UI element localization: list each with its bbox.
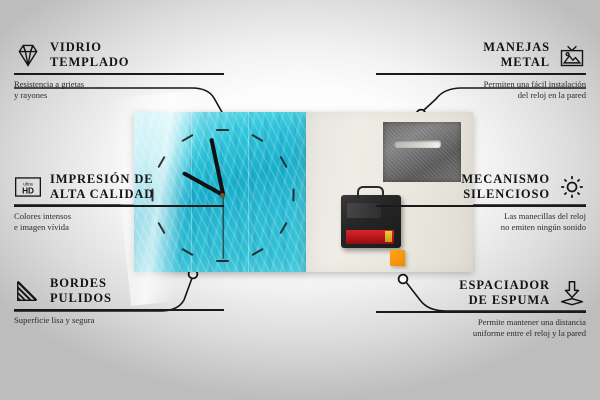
clock-tick — [292, 189, 294, 202]
diamond-icon — [14, 42, 42, 68]
svg-text:HD: HD — [22, 186, 34, 195]
feature-title: MECANISMO SILENCIOSO — [461, 172, 550, 201]
feature-divider — [14, 205, 224, 207]
feature-divider — [14, 309, 224, 311]
feature-divider — [376, 205, 586, 207]
feature-title: IMPRESIÓN DE ALTA CALIDAD — [50, 172, 154, 201]
clock-tick — [216, 260, 229, 262]
feature-heading: MANEJAS METAL — [376, 40, 586, 69]
gear-icon — [558, 174, 586, 200]
feature-heading: ultra HD IMPRESIÓN DE ALTA CALIDAD — [14, 172, 224, 201]
feature-bordes-pulidos: BORDES PULIDOS Superficie lisa y segura — [14, 276, 224, 326]
feature-title: MANEJAS METAL — [483, 40, 550, 69]
panel-seam-right — [248, 112, 249, 272]
feature-description: Resistencia a grietas y rayones — [14, 79, 224, 103]
feature-espaciador-espuma: ESPACIADOR DE ESPUMA Permite mantener un… — [376, 278, 586, 340]
feature-divider — [376, 73, 586, 75]
feature-manejas-metal: MANEJAS METAL Permiten una fácil instala… — [376, 40, 586, 102]
feature-heading: BORDES PULIDOS — [14, 276, 224, 305]
clock-tick — [252, 248, 264, 256]
feature-description: Permite mantener una distancia uniforme … — [376, 317, 586, 341]
down-arrow-pad-icon — [558, 280, 586, 306]
feature-divider — [14, 73, 224, 75]
clock-tick — [280, 156, 288, 168]
feature-description: Colores intensos e imagen vívida — [14, 211, 224, 235]
feature-title: VIDRIO TEMPLADO — [50, 40, 129, 69]
feature-divider — [376, 311, 586, 313]
clock-tick — [280, 222, 288, 234]
clock-tick — [216, 129, 229, 131]
feature-title: BORDES PULIDOS — [50, 276, 112, 305]
feature-heading: MECANISMO SILENCIOSO — [376, 172, 586, 201]
foam-spacer-pad — [390, 250, 405, 266]
feature-vidrio-templado: VIDRIO TEMPLADO Resistencia a grietas y … — [14, 40, 224, 102]
feature-title: ESPACIADOR DE ESPUMA — [459, 278, 550, 307]
feature-description: Las manecillas del reloj no emiten ningú… — [376, 211, 586, 235]
feature-description: Superficie lisa y segura — [14, 315, 224, 327]
feature-impresion-alta-calidad: ultra HD IMPRESIÓN DE ALTA CALIDAD Color… — [14, 172, 224, 234]
infographic-canvas: VIDRIO TEMPLADO Resistencia a grietas y … — [0, 0, 600, 400]
feature-heading: ESPACIADOR DE ESPUMA — [376, 278, 586, 307]
hanger-slot — [394, 140, 441, 148]
polished-edges-icon — [14, 278, 42, 304]
clock-tick — [252, 134, 264, 142]
picture-frame-hanger-icon — [558, 42, 586, 68]
ultra-hd-icon: ultra HD — [14, 174, 42, 200]
feature-description: Permiten una fácil instalación del reloj… — [376, 79, 586, 103]
feature-mecanismo-silencioso: MECANISMO SILENCIOSO Las manecillas del … — [376, 172, 586, 234]
feature-heading: VIDRIO TEMPLADO — [14, 40, 224, 69]
